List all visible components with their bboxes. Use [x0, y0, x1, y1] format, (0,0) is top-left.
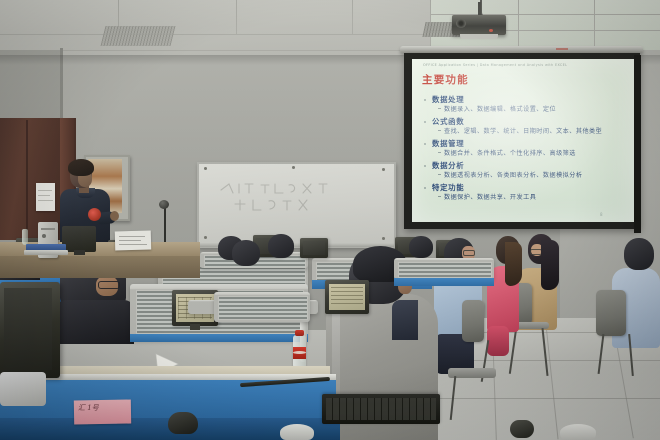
chair-backrest	[462, 300, 484, 342]
glasses-icon	[463, 250, 475, 256]
projector-bracket	[460, 34, 498, 39]
slide-subdash-icon	[438, 108, 441, 109]
notice-text-line	[38, 195, 50, 196]
slide-subtext: 查找、逻辑、数学、统计、日期时间、文本、其他类型	[444, 126, 602, 135]
water-bottle	[22, 229, 28, 245]
papers-on-desk	[24, 250, 68, 255]
screen-brand-mark	[556, 48, 568, 50]
projector-status-led	[489, 29, 493, 32]
student-head	[268, 234, 294, 258]
chair-backrest	[596, 290, 626, 336]
computer-mouse[interactable]	[168, 412, 198, 434]
slide-title: 主要功能	[422, 72, 469, 87]
white-stool	[560, 424, 596, 440]
posted-white-notice	[36, 183, 55, 211]
monitor-screen	[303, 241, 325, 255]
teacher-desk-front	[0, 256, 200, 278]
whiteboard-bolt	[204, 236, 207, 239]
slide-subtext: 数据透视表分析、各类图表分析、数据模拟分析	[444, 170, 582, 179]
slide-subtext: 数据合并、条件格式、个性化排序、高级筛选	[444, 148, 576, 157]
slide-subtext: 数据保护、数据共享、开发工具	[444, 192, 536, 201]
notice-text-line	[38, 190, 52, 191]
paper-text-line	[119, 240, 141, 241]
ceiling-grid-line	[236, 0, 237, 34]
whiteboard-bolt	[382, 168, 385, 171]
projector-lens-icon	[456, 19, 466, 28]
keyboard-keys	[326, 398, 436, 420]
student-right-blue-shirt-head	[624, 238, 654, 270]
ceiling-vent-icon	[101, 26, 176, 46]
projection-screen-side-shadow	[634, 55, 641, 233]
slide-header-text: OFFICE Application Series | Data Managem…	[423, 63, 623, 67]
student-head	[409, 236, 433, 258]
ceiling-grid-line	[518, 0, 519, 50]
ceiling-grid-line	[594, 0, 595, 50]
presenter-hand	[110, 211, 119, 221]
whiteboard-writing	[215, 180, 365, 216]
classroom-photo-scene: OFFICE Application Series | Data Managem…	[0, 0, 660, 440]
coca-cola-wave-icon	[293, 351, 306, 354]
partition-glass-panel	[218, 296, 308, 320]
jacket-collar	[392, 300, 418, 340]
floor-tile-line	[420, 398, 660, 399]
partition-blue-band	[394, 278, 494, 286]
slide-subdash-icon	[438, 152, 441, 153]
coca-cola-cap	[295, 330, 304, 336]
monitor-screen	[4, 288, 52, 370]
slide-subdash-icon	[438, 130, 441, 131]
spreadsheet-on-monitor	[331, 287, 363, 307]
microphone-icon[interactable]	[159, 200, 169, 209]
paper-text-line	[119, 236, 145, 237]
computer-mouse[interactable]	[510, 420, 534, 438]
microphone-stand	[164, 206, 166, 244]
student-pink-top-hair	[505, 242, 522, 286]
slide-bullet-icon	[424, 99, 426, 101]
slide-page-number: 8	[600, 212, 603, 217]
student-pink-top-legs	[487, 326, 509, 356]
monitor-stand	[190, 324, 200, 330]
student-tan-coat-hair	[541, 240, 559, 290]
presenter-hair	[68, 159, 94, 176]
student-dark-hair-torso	[56, 300, 134, 344]
slide-subtext: 数据录入、数据编辑、格式设置、定位	[444, 104, 556, 113]
whiteboard-bolt	[292, 166, 295, 169]
ceiling-grid-line	[0, 34, 430, 35]
whiteboard-bolt	[204, 167, 207, 170]
screen-roller-housing[interactable]	[400, 46, 643, 53]
teacher-monitor-stand	[74, 250, 85, 255]
slide-subdash-icon	[438, 196, 441, 197]
paper-text-line	[119, 244, 147, 245]
slide-bullet-icon	[424, 187, 426, 189]
teacher-monitor	[62, 226, 96, 252]
monitor-stand	[0, 372, 46, 406]
optical-drive-icon	[41, 228, 55, 230]
pink-desk-label-text: 汇 1号	[78, 403, 130, 413]
presenter-shirt-logo	[88, 208, 101, 221]
slide-subdash-icon	[438, 174, 441, 175]
glasses-icon	[98, 281, 120, 289]
projector-mount	[478, 2, 481, 16]
slide-bullet-icon	[424, 121, 426, 123]
slide-bullet-icon	[424, 165, 426, 167]
notice-text-line	[38, 200, 53, 201]
ceiling-grid-line	[352, 0, 353, 34]
cabinet-door-seam	[26, 120, 28, 238]
power-button-icon[interactable]	[42, 234, 46, 238]
white-stool	[280, 424, 314, 440]
slide-bullet-icon	[424, 143, 426, 145]
whiteboard-bolt	[382, 237, 385, 240]
partition-blue-band	[130, 334, 308, 342]
student-head	[232, 240, 260, 266]
